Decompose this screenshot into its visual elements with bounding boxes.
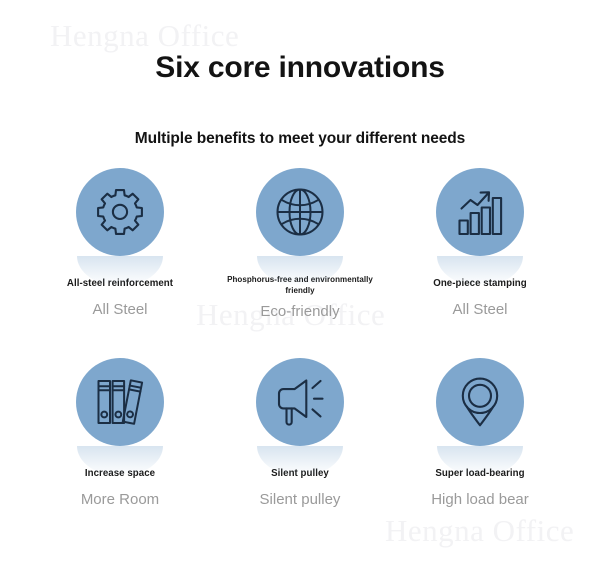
icon-disc xyxy=(436,168,524,256)
feature-item-eco-friendly: Phosphorus-free and environmentally frie… xyxy=(210,168,390,321)
feature-subtitle: High load bear xyxy=(431,490,529,509)
feature-title: Super load-bearing xyxy=(435,468,524,481)
feature-subtitle: All Steel xyxy=(452,300,507,319)
binders-icon xyxy=(95,377,145,427)
feature-item-increase-space: Increase space More Room xyxy=(30,358,210,509)
feature-title: Increase space xyxy=(85,468,155,481)
location-pin-icon xyxy=(456,376,504,428)
icon-disc xyxy=(436,358,524,446)
megaphone-icon xyxy=(274,376,326,428)
icon-disc-wrap xyxy=(436,168,524,256)
feature-title: All-steel reinforcement xyxy=(67,278,173,291)
feature-subtitle: All Steel xyxy=(92,300,147,319)
gear-icon xyxy=(95,187,145,237)
page-title: Six core innovations xyxy=(0,49,600,87)
icon-disc-wrap xyxy=(436,358,524,446)
page-title-container: Six core innovations xyxy=(0,49,600,87)
icon-disc xyxy=(256,358,344,446)
feature-subtitle: Silent pulley xyxy=(260,490,341,509)
feature-item-super-load-bearing: Super load-bearing High load bear xyxy=(390,358,570,509)
feature-subtitle: Eco-friendly xyxy=(260,302,339,321)
feature-title: Silent pulley xyxy=(271,468,329,481)
feature-item-all-steel-reinforcement: All-steel reinforcement All Steel xyxy=(30,168,210,319)
icon-disc-wrap xyxy=(256,358,344,446)
feature-title: Phosphorus-free and environmentally frie… xyxy=(215,275,385,296)
feature-item-one-piece-stamping: One-piece stamping All Steel xyxy=(390,168,570,319)
feature-row-2: Increase space More Room xyxy=(0,358,600,548)
feature-title: One-piece stamping xyxy=(433,278,527,291)
icon-disc xyxy=(256,168,344,256)
icon-disc xyxy=(76,358,164,446)
page-subtitle: Multiple benefits to meet your different… xyxy=(0,128,600,150)
infographic-poster: Hengna Office Hengna Office Hengna Offic… xyxy=(0,0,600,571)
feature-subtitle: More Room xyxy=(81,490,159,509)
feature-item-silent-pulley: Silent pulley Silent pulley xyxy=(210,358,390,509)
icon-disc-wrap xyxy=(76,168,164,256)
growth-chart-icon xyxy=(455,187,505,237)
icon-disc-wrap xyxy=(76,358,164,446)
feature-grid: All-steel reinforcement All Steel xyxy=(0,168,600,548)
page-subtitle-container: Multiple benefits to meet your different… xyxy=(0,128,600,150)
feature-row-1: All-steel reinforcement All Steel xyxy=(0,168,600,358)
globe-icon xyxy=(274,186,326,238)
icon-disc-wrap xyxy=(256,168,344,256)
icon-disc xyxy=(76,168,164,256)
